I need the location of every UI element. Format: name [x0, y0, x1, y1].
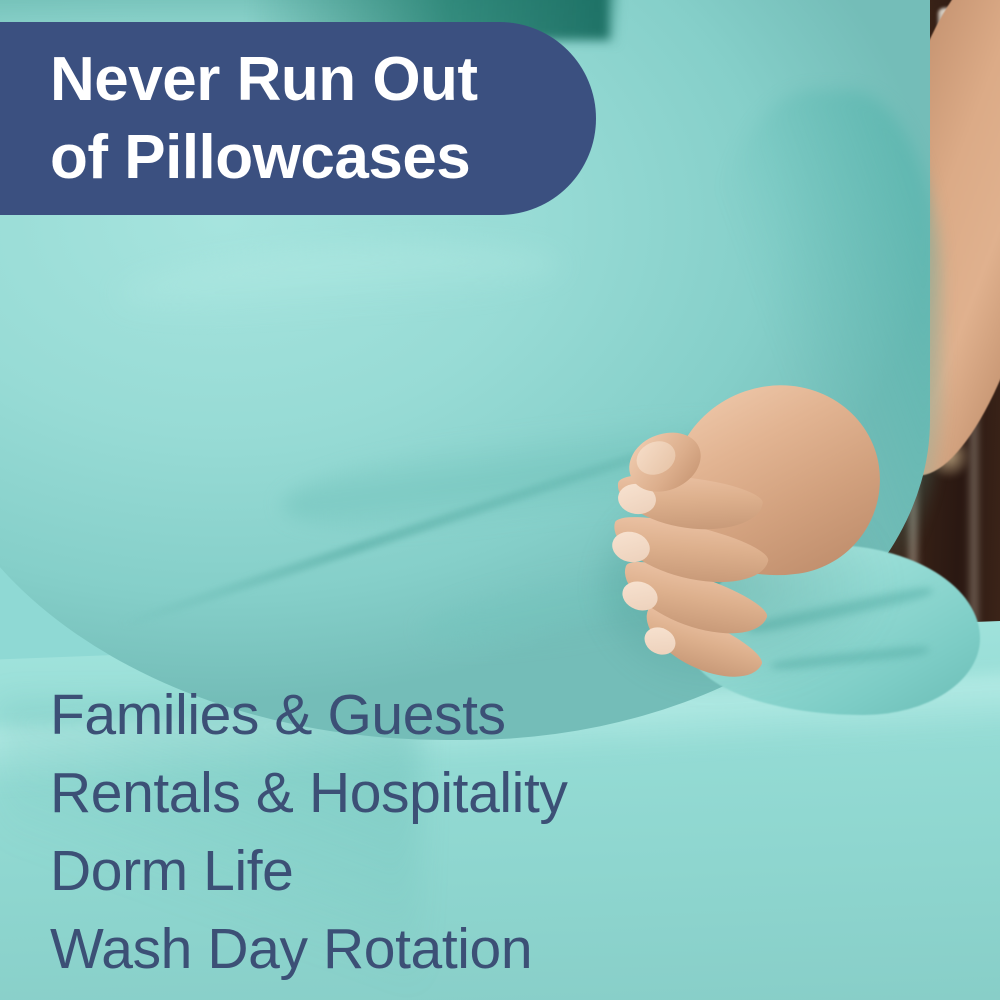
- headline-line-2: of Pillowcases: [50, 119, 596, 197]
- headline-banner: Never Run Out of Pillowcases: [0, 22, 596, 215]
- use-case-list: Families & Guests Rentals & Hospitality …: [50, 676, 670, 988]
- use-case-item-dorm: Dorm Life: [50, 832, 670, 910]
- product-image-canvas: Never Run Out of Pillowcases Families & …: [0, 0, 1000, 1000]
- use-case-item-wash-day: Wash Day Rotation: [50, 910, 670, 988]
- use-case-item-rentals: Rentals & Hospitality: [50, 754, 670, 832]
- headline-line-1: Never Run Out: [50, 41, 596, 119]
- use-case-item-families: Families & Guests: [50, 676, 670, 754]
- human-hand: [612, 386, 912, 686]
